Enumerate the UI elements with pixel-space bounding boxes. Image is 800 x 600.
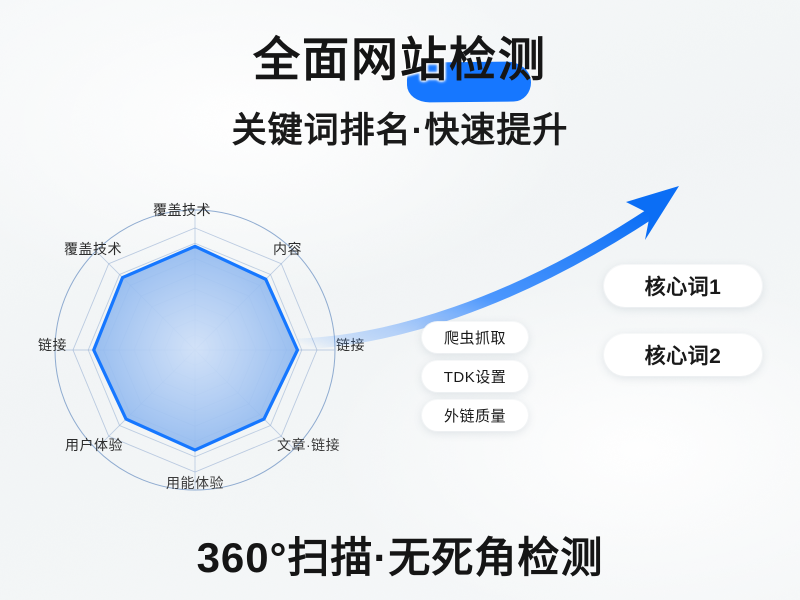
radar-label-left: 链接 xyxy=(38,338,67,352)
radar-label-bottom-left: 用户体验 xyxy=(65,438,123,452)
arrow-head xyxy=(626,186,679,240)
tag-keyword-1[interactable]: 核心词2 xyxy=(604,334,762,376)
radar-label-bottom: 用能体验 xyxy=(166,476,224,490)
title-part-post: 检测 xyxy=(449,33,547,86)
footer-tagline: 360°扫描·无死角检测 xyxy=(0,524,800,585)
tag-process-2[interactable]: 外链质量 xyxy=(422,400,528,431)
tag-process-0[interactable]: 爬虫抓取 xyxy=(422,322,528,353)
title-part-highlight: 网站 xyxy=(351,33,449,86)
headline-group: 全面网站检测 关键词排名·快速提升 xyxy=(0,34,800,153)
tag-keyword-0[interactable]: 核心词1 xyxy=(604,265,762,307)
radar-data-polygon xyxy=(94,246,298,450)
radar-label-top-left: 覆盖技术 xyxy=(64,242,122,256)
tag-process-1[interactable]: TDK设置 xyxy=(422,361,528,392)
title-part-pre: 全面 xyxy=(253,33,351,86)
page-title: 全面网站检测 xyxy=(253,34,547,86)
radar-label-bottom-right: 文章·链接 xyxy=(277,438,340,452)
page-subtitle: 关键词排名·快速提升 xyxy=(0,102,800,153)
radar-label-top: 覆盖技术 xyxy=(153,203,211,217)
